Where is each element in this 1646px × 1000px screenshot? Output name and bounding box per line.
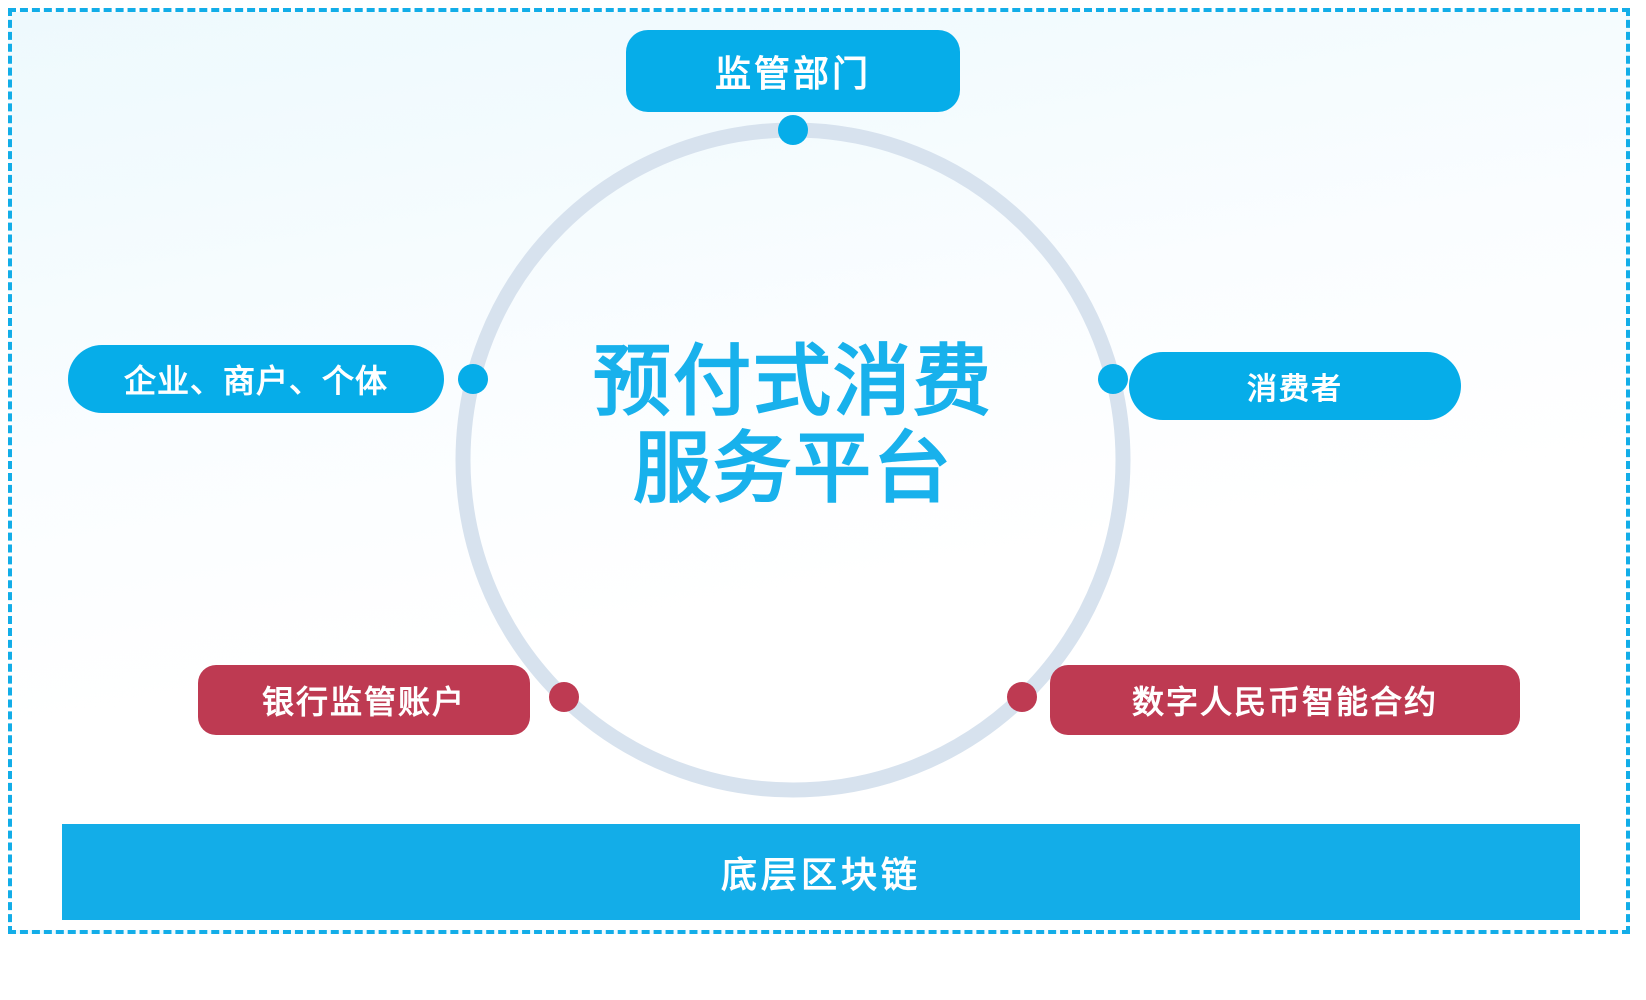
diagram-canvas: 预付式消费 服务平台 监管部门 企业、商户、个体 消费者 银行监管账户 数字人民… bbox=[0, 0, 1646, 1000]
node-digital-rmb-smart-contract[interactable]: 数字人民币智能合约 bbox=[1050, 665, 1520, 735]
node-bank-supervision-account[interactable]: 银行监管账户 bbox=[198, 665, 530, 735]
center-label-line-2: 服务平台 bbox=[513, 425, 1073, 512]
center-label-line-1: 预付式消费 bbox=[513, 338, 1073, 425]
node-business-merchant-individual[interactable]: 企业、商户、个体 bbox=[68, 345, 444, 413]
node-regulator[interactable]: 监管部门 bbox=[626, 30, 960, 112]
node-consumer[interactable]: 消费者 bbox=[1129, 352, 1461, 420]
center-platform-label: 预付式消费 服务平台 bbox=[513, 338, 1073, 513]
foundation-blockchain-bar[interactable]: 底层区块链 bbox=[62, 824, 1580, 920]
